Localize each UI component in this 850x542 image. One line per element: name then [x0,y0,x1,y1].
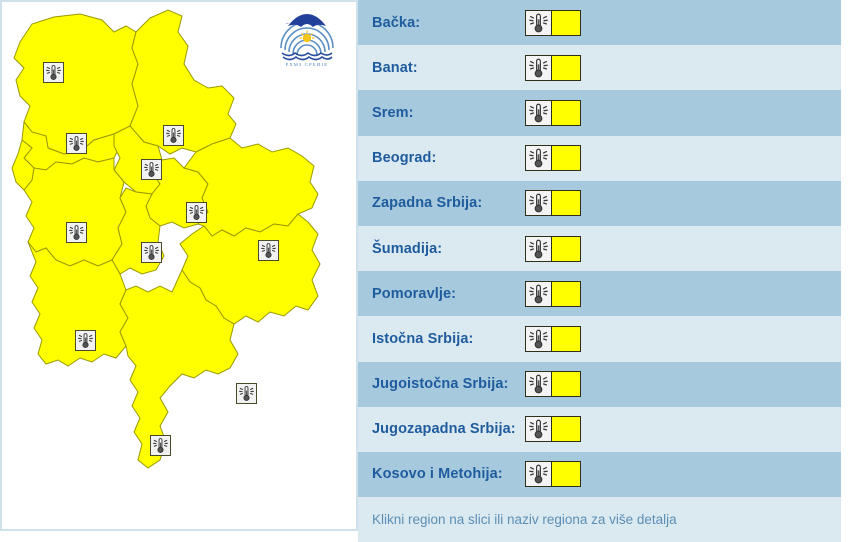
warning-indicator[interactable] [525,145,581,171]
warning-level-swatch [552,237,580,261]
warning-indicator[interactable] [525,10,581,36]
region-label: Jugozapadna Srbija: [372,421,522,437]
warning-level-swatch [552,11,580,35]
region-label: Srem: [372,105,522,121]
warning-level-swatch [552,462,580,486]
warning-level-swatch [552,56,580,80]
high-temperature-thermometer-icon [526,282,552,306]
warning-indicator[interactable] [525,236,581,262]
high-temperature-thermometer-icon [526,372,552,396]
high-temperature-thermometer-icon [526,327,552,351]
high-temperature-thermometer-icon [526,237,552,261]
high-temperature-thermometer-icon [526,146,552,170]
warning-indicator[interactable] [525,371,581,397]
rhmz-logo: РХМЗ СРБИЈЕ [277,8,337,70]
high-temperature-thermometer-icon [526,56,552,80]
region-label: Beograd: [372,150,522,166]
region-row-beograd[interactable]: Beograd: [358,136,841,181]
region-label: Bačka: [372,15,522,31]
region-row-srem[interactable]: Srem: [358,90,841,135]
warning-level-swatch [552,282,580,306]
rhmz-serbia-logo-icon: РХМЗ СРБИЈЕ [277,8,337,70]
map-marker-kosovo-metohija[interactable] [150,435,171,456]
warning-indicator[interactable] [525,326,581,352]
map-marker-backa[interactable] [43,62,64,83]
footer-note-link[interactable]: Klikni region na slici ili naziv regiona… [372,512,677,527]
high-temperature-thermometer-icon [526,417,552,441]
region-row-kosovo-i-metohija[interactable]: Kosovo i Metohija: [358,452,841,497]
warning-indicator[interactable] [525,461,581,487]
region-row-backa[interactable]: Bačka: [358,0,841,45]
region-label: Pomoravlje: [372,286,522,302]
region-row-banat[interactable]: Banat: [358,45,841,90]
map-marker-jugozapadna-srbija[interactable] [75,330,96,351]
region-label: Banat: [372,60,522,76]
warning-level-swatch [552,327,580,351]
high-temperature-thermometer-icon [526,101,552,125]
map-marker-zapadna-srbija[interactable] [66,222,87,243]
logo-caption: РХМЗ СРБИЈЕ [286,62,328,67]
region-row-zapadna-srbija[interactable]: Zapadna Srbija: [358,181,841,226]
warning-indicator[interactable] [525,281,581,307]
map-panel: РХМЗ СРБИЈЕ [0,0,358,531]
map-marker-jugoistocna-srbija[interactable] [236,383,257,404]
warning-level-swatch [552,417,580,441]
weather-warning-page: РХМЗ СРБИЈЕ Bačka:Banat:Srem:Beograd:Zap… [0,0,850,539]
region-label: Šumadija: [372,241,522,257]
region-row-pomoravlje[interactable]: Pomoravlje: [358,271,841,316]
region-row-istocna-srbija[interactable]: Istočna Srbija: [358,316,841,361]
warning-level-swatch [552,146,580,170]
warning-indicator[interactable] [525,100,581,126]
warning-level-swatch [552,372,580,396]
region-label: Istočna Srbija: [372,331,522,347]
region-label: Zapadna Srbija: [372,195,522,211]
high-temperature-thermometer-icon [526,11,552,35]
warning-indicator[interactable] [525,416,581,442]
map-marker-pomoravlje[interactable] [141,242,162,263]
region-row-jugoistocna-srbija[interactable]: Jugoistočna Srbija: [358,362,841,407]
region-label: Kosovo i Metohija: [372,466,522,482]
high-temperature-thermometer-icon [526,462,552,486]
warning-level-swatch [552,191,580,215]
region-row-sumadija[interactable]: Šumadija: [358,226,841,271]
warning-indicator[interactable] [525,190,581,216]
map-marker-sumadija[interactable] [186,202,207,223]
map-marker-istocna-srbija[interactable] [258,240,279,261]
map-marker-srem[interactable] [66,133,87,154]
footer-note-row: Klikni region na slici ili naziv regiona… [358,497,841,542]
map-marker-beograd[interactable] [141,159,162,180]
warning-indicator[interactable] [525,55,581,81]
region-rows: Bačka:Banat:Srem:Beograd:Zapadna Srbija:… [358,0,850,497]
region-label: Jugoistočna Srbija: [372,376,522,392]
warning-level-swatch [552,101,580,125]
high-temperature-thermometer-icon [526,191,552,215]
region-row-jugozapadna-srbija[interactable]: Jugozapadna Srbija: [358,407,841,452]
region-list-panel: Bačka:Banat:Srem:Beograd:Zapadna Srbija:… [358,0,850,539]
map-marker-banat[interactable] [163,125,184,146]
map-region-zapadna-srbija[interactable] [24,158,126,266]
